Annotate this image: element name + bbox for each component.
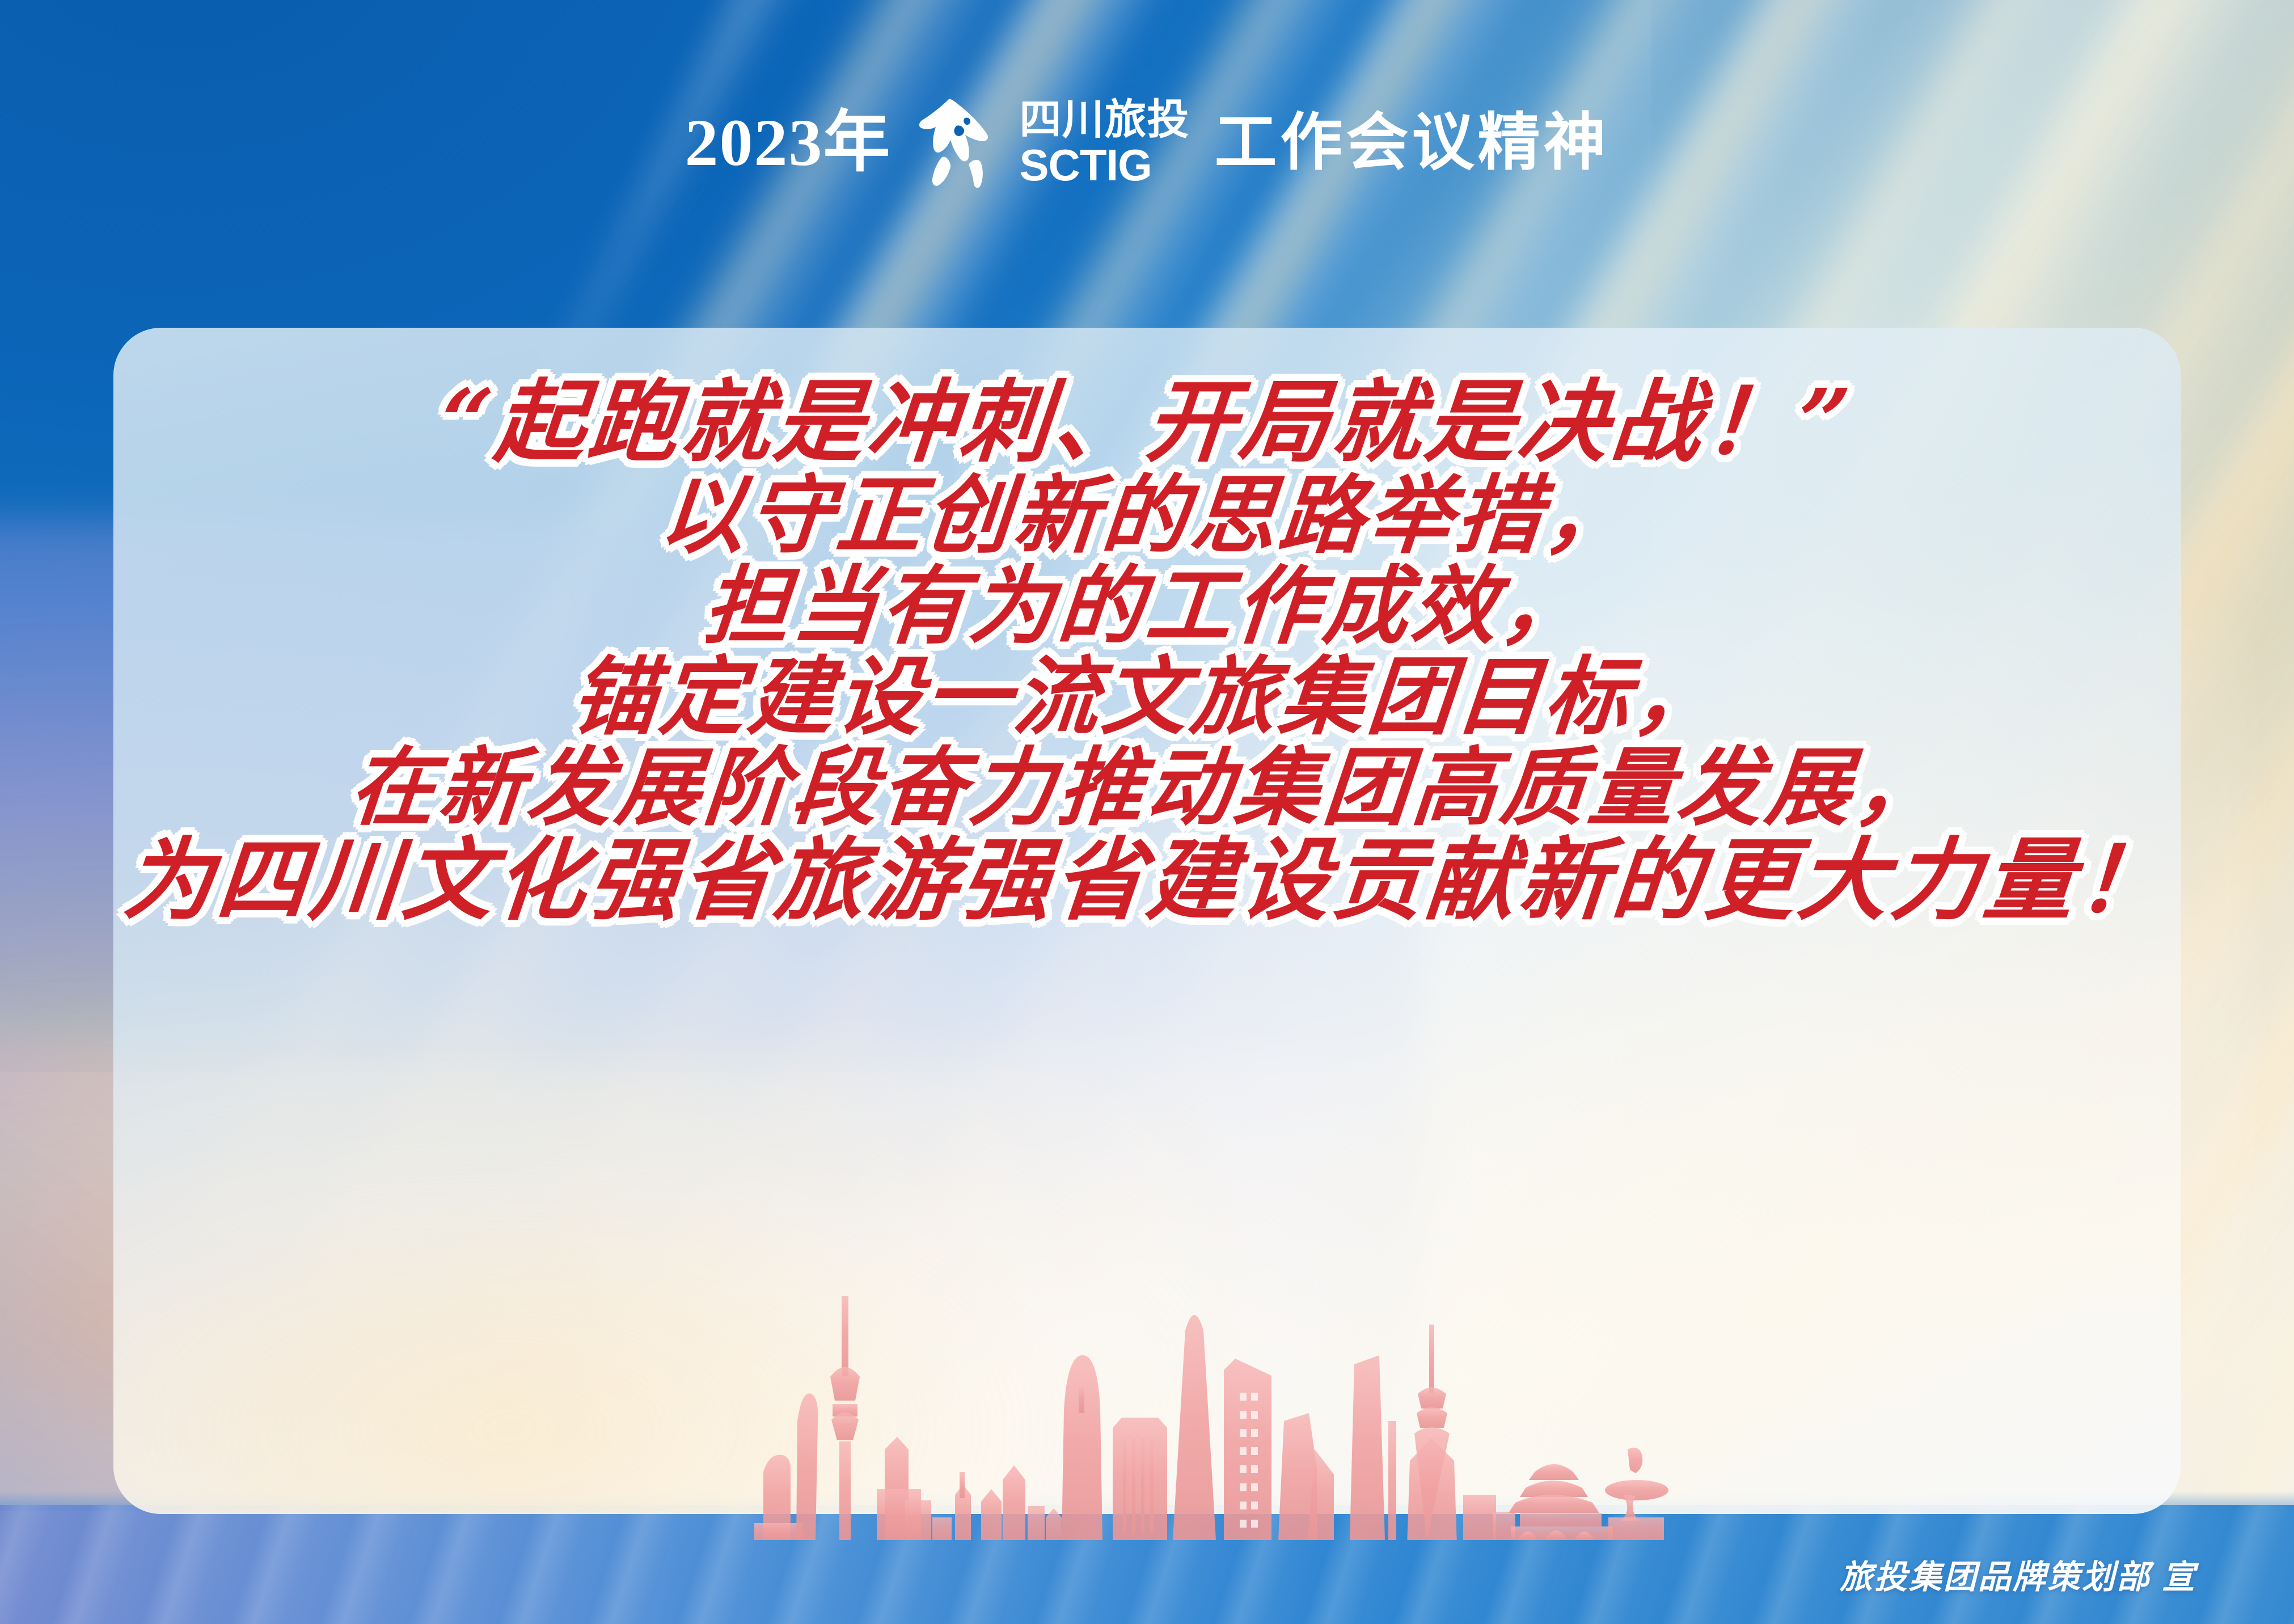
sctig-globe-panda-logo-icon: [916, 95, 1007, 191]
footer-credit-text: 旅投集团品牌策划部 宣: [1840, 1550, 2196, 1598]
brand-name-chinese: 四川旅投: [1020, 99, 1190, 141]
content-card: [113, 328, 2181, 1514]
brand-lockup: 四川旅投 SCTIG: [916, 95, 1190, 191]
poster-root: 2023年 四川旅投 SCTIG 工作会议精神: [0, 0, 2294, 1624]
header-year-label: 2023年: [685, 109, 891, 176]
brand-wordmark: 四川旅投 SCTIG: [1020, 99, 1190, 187]
header-title-suffix: 工作会议精神: [1215, 112, 1609, 174]
footer-credit: 旅投集团品牌策划部 宣: [1840, 1550, 2196, 1598]
poster-header: 2023年 四川旅投 SCTIG 工作会议精神: [0, 75, 2294, 211]
card-sheen-overlay: [113, 328, 2181, 1514]
card-warm-glow: [113, 1063, 1230, 1514]
brand-name-english: SCTIG: [1020, 143, 1190, 187]
